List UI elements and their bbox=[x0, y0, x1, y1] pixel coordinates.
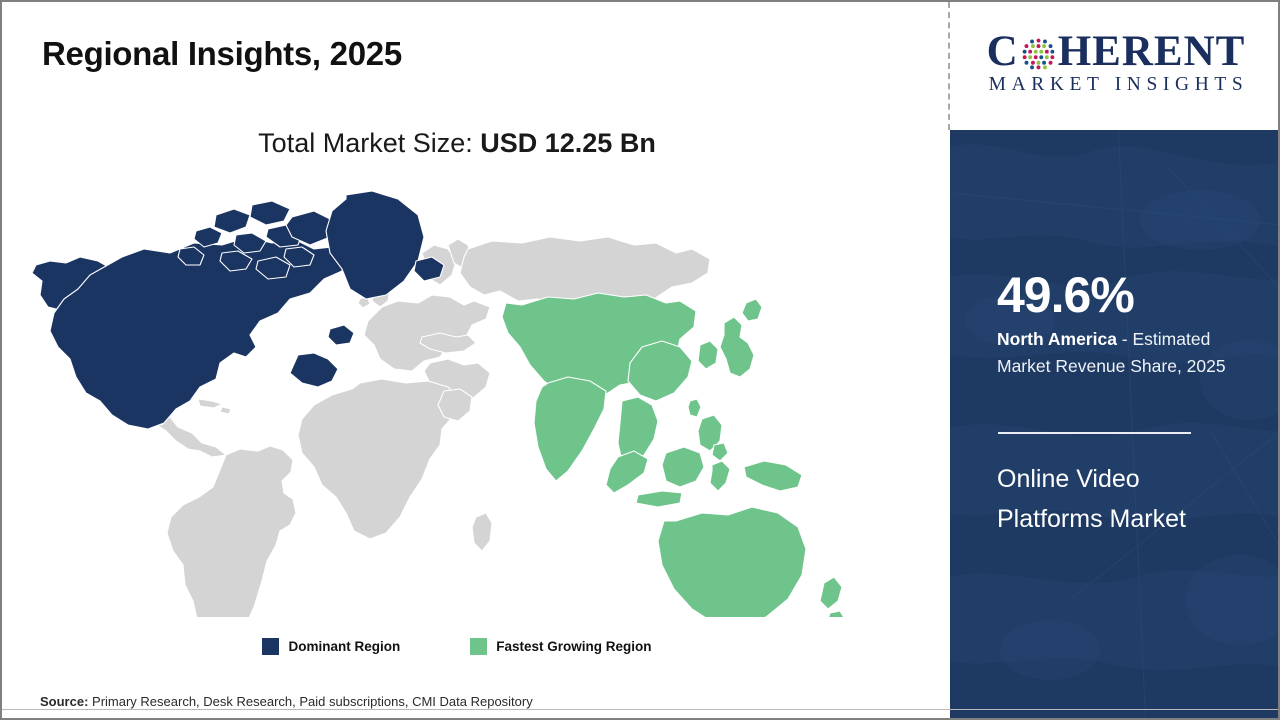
logo-letters-herent: HERENT bbox=[1058, 30, 1246, 73]
legend-item-dominant: Dominant Region bbox=[262, 638, 400, 655]
footer-divider bbox=[2, 709, 1278, 710]
market-name: Online Video Platforms Market bbox=[997, 460, 1237, 539]
stat-content: 49.6% North America - Estimated Market R… bbox=[997, 130, 1272, 720]
right-side-panel: C bbox=[950, 2, 1280, 720]
logo-wordmark: C bbox=[966, 30, 1266, 73]
market-share-percent: 49.6% bbox=[997, 270, 1134, 320]
legend-swatch-dominant bbox=[262, 638, 279, 655]
legend-item-fastest-growing: Fastest Growing Region bbox=[470, 638, 651, 655]
logo-tagline: MARKET INSIGHTS bbox=[966, 75, 1266, 95]
legend-label-fastest-growing: Fastest Growing Region bbox=[496, 639, 651, 654]
market-share-description: North America - Estimated Market Revenue… bbox=[997, 326, 1265, 379]
source-label: Source: bbox=[40, 694, 88, 709]
market-size-value: USD 12.25 Bn bbox=[480, 128, 656, 158]
world-map bbox=[30, 187, 850, 617]
infographic-page: Regional Insights, 2025 Total Market Siz… bbox=[0, 0, 1280, 720]
page-title: Regional Insights, 2025 bbox=[42, 35, 402, 73]
stat-divider-rule bbox=[998, 432, 1191, 434]
legend-label-dominant: Dominant Region bbox=[288, 639, 400, 654]
map-fastest-growing-region bbox=[502, 293, 846, 617]
coherent-market-insights-logo: C bbox=[966, 30, 1266, 95]
map-legend: Dominant Region Fastest Growing Region bbox=[2, 638, 912, 655]
stat-panel: 49.6% North America - Estimated Market R… bbox=[950, 130, 1280, 720]
total-market-size: Total Market Size: USD 12.25 Bn bbox=[2, 128, 912, 159]
dotted-globe-icon bbox=[1020, 35, 1057, 72]
source-text: Primary Research, Desk Research, Paid su… bbox=[88, 694, 532, 709]
left-content-pane: Regional Insights, 2025 Total Market Siz… bbox=[2, 2, 950, 720]
logo-letter-c: C bbox=[987, 30, 1019, 73]
market-size-prefix: Total Market Size: bbox=[258, 128, 480, 158]
logo-container: C bbox=[950, 2, 1280, 130]
source-line: Source: Primary Research, Desk Research,… bbox=[40, 694, 533, 709]
legend-swatch-fastest-growing bbox=[470, 638, 487, 655]
stat-region-name: North America bbox=[997, 329, 1117, 349]
